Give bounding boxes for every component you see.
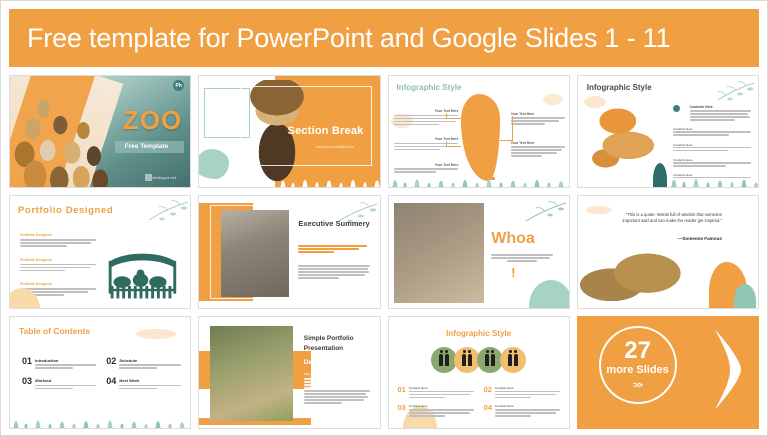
website-label: slidesppt.net bbox=[152, 176, 176, 180]
slide-thumbnail-section-break[interactable]: Section Break Insert your subtitle here bbox=[198, 75, 380, 188]
slide-subtitle: Insert your subtitle here bbox=[316, 145, 354, 149]
item-number: 04 bbox=[106, 377, 116, 386]
lead-block: Contents Here bbox=[690, 105, 751, 123]
infographic-item: Your Text Here bbox=[511, 112, 565, 127]
connector-line bbox=[500, 116, 513, 140]
quote-author: —Someone Famous bbox=[621, 236, 722, 241]
elephant-image bbox=[221, 210, 289, 297]
slide-gallery-page: Free template for PowerPoint and Google … bbox=[0, 0, 768, 436]
grass-decoration bbox=[275, 173, 380, 187]
infographic-item: Contents Here bbox=[673, 143, 751, 153]
animals-collage-image bbox=[12, 96, 117, 187]
slide-thumbnail-grid: Ph ZOO Free Template slidesppt.net Secti… bbox=[9, 75, 759, 429]
item-heading: Portfolio Designed bbox=[20, 258, 96, 262]
rhino-image bbox=[394, 203, 484, 303]
zoo-gate-illustration: ZOO bbox=[101, 239, 184, 301]
toc-item: 04 Next Week bbox=[106, 377, 180, 391]
people-circle-icon bbox=[500, 347, 526, 373]
item-number: 03 bbox=[22, 377, 32, 386]
exclamation-mark: ! bbox=[511, 265, 515, 280]
title-line-3: Designed bbox=[304, 359, 333, 366]
slide-title: Infographic Style bbox=[397, 83, 462, 92]
peach-cloud-decoration bbox=[136, 329, 176, 339]
lead-heading: Contents Here bbox=[690, 105, 751, 109]
infographic-item: 03 Content Here bbox=[398, 404, 474, 418]
slide-thumbnail-executive-summery[interactable]: Executive Summery bbox=[198, 195, 380, 308]
infographic-item: Contents Here bbox=[673, 158, 751, 168]
toc-item: 01 Introduction bbox=[22, 357, 96, 371]
giraffe-image bbox=[210, 326, 293, 422]
slide-thumbnail-portfolio-designed[interactable]: Portfolio Designed Portfolio Designed Po… bbox=[9, 195, 191, 308]
item-number: 01 bbox=[22, 357, 32, 366]
slide-thumbnail-whoa[interactable]: Whoa ! bbox=[388, 195, 570, 308]
slide-title: Portfolio Designed bbox=[18, 205, 113, 216]
item-number: 02 bbox=[484, 386, 492, 400]
slide-body-block: Your Content Here bbox=[304, 372, 371, 405]
slide-subtitle-block bbox=[298, 245, 366, 254]
body-subheading: Your Content Here bbox=[304, 372, 371, 376]
toc-item: 03 Workout bbox=[22, 377, 96, 391]
item-heading: Portfolio Designed bbox=[20, 233, 96, 237]
infographic-item: 01 Content Here bbox=[398, 386, 474, 400]
item-heading: Content Here bbox=[409, 404, 474, 408]
item-number: 04 bbox=[484, 404, 492, 418]
item-heading: Introduction bbox=[35, 358, 96, 363]
item-heading: Your Text Here bbox=[394, 163, 459, 167]
teal-blob-decoration bbox=[529, 280, 569, 308]
title-line-2: Presentation bbox=[304, 345, 343, 352]
people-circle-row bbox=[389, 347, 569, 373]
page-header-banner: Free template for PowerPoint and Google … bbox=[9, 9, 759, 67]
slide-count: 27 bbox=[624, 339, 651, 363]
peach-blob-right bbox=[543, 94, 563, 105]
slide-thumbnail-infographic-tiger[interactable]: Infographic Style Contents Here Contents… bbox=[577, 75, 759, 188]
grass-decoration bbox=[389, 171, 569, 187]
bullet-marker-icon bbox=[673, 105, 680, 112]
item-number: 03 bbox=[398, 404, 406, 418]
slide-body-block bbox=[298, 265, 370, 280]
slide-thumbnail-quote[interactable]: "This is a quote. Words full of wisdom t… bbox=[577, 195, 759, 308]
quote-text: "This is a quote. Words full of wisdom t… bbox=[621, 212, 722, 225]
grass-decoration bbox=[10, 412, 190, 428]
slide-subtitle: Free Template bbox=[115, 141, 185, 153]
infographic-item: 02 Content Here bbox=[484, 386, 560, 400]
slide-title: Executive Summery bbox=[298, 219, 369, 228]
slide-title: Whoa bbox=[491, 230, 535, 248]
branch-icon bbox=[513, 199, 567, 225]
item-heading: Portfolio Designed bbox=[20, 282, 96, 286]
logo-mark-icon bbox=[145, 174, 152, 181]
slide-thumbnail-infographic-chameleon[interactable]: Infographic Style Your Text Here Your Te… bbox=[388, 75, 570, 188]
slide-title: Simple Portfolio Presentation bbox=[304, 334, 354, 353]
branch-icon bbox=[702, 80, 756, 106]
chevron-right-icon: >> bbox=[633, 380, 642, 390]
slide-title: Table of Contents bbox=[19, 326, 90, 336]
item-heading: Next Week bbox=[119, 378, 180, 383]
teal-blob-decoration bbox=[734, 284, 756, 308]
item-number: 01 bbox=[398, 386, 406, 400]
infographic-item: Your Text Here bbox=[511, 141, 565, 159]
grass-decoration bbox=[668, 175, 758, 187]
svg-text:ZOO: ZOO bbox=[136, 261, 151, 268]
toc-item: 02 Schedule bbox=[106, 357, 180, 371]
slide-thumbnail-table-of-contents[interactable]: Table of Contents 01 Introduction 02 Sch… bbox=[9, 316, 191, 429]
slide-thumbnail-simple-portfolio[interactable]: Simple Portfolio Presentation Designed Y… bbox=[198, 316, 380, 429]
slide-title: Infographic Style bbox=[587, 83, 652, 92]
slide-thumbnail-infographic-people[interactable]: Infographic Style bbox=[388, 316, 570, 429]
slide-thumbnail-zoo-cover[interactable]: Ph ZOO Free Template slidesppt.net bbox=[9, 75, 191, 188]
portfolio-item: Portfolio Designed bbox=[20, 233, 96, 248]
more-slides-circle: 27 more Slides >> bbox=[599, 326, 677, 404]
more-slides-card[interactable]: 27 more Slides >> bbox=[577, 316, 759, 429]
item-heading: Content Here bbox=[495, 386, 560, 390]
connector-line bbox=[446, 141, 460, 148]
item-heading: Your Text Here bbox=[511, 141, 565, 145]
slide-body-block bbox=[491, 254, 552, 263]
portfolio-item: Portfolio Designed bbox=[20, 258, 96, 273]
item-heading: Workout bbox=[35, 378, 96, 383]
item-heading: Your Text Here bbox=[511, 112, 565, 116]
connector-line bbox=[446, 113, 460, 120]
title-line-1: Simple Portfolio bbox=[304, 335, 354, 342]
arrow-right-icon bbox=[713, 328, 743, 417]
lion-image bbox=[578, 250, 690, 308]
peach-cloud-decoration bbox=[586, 206, 612, 214]
item-heading: Schedule bbox=[119, 358, 180, 363]
infographic-item: 04 Content Here bbox=[484, 404, 560, 418]
slide-title: Section Break bbox=[288, 125, 364, 137]
toc-list: 01 Introduction 02 Schedule bbox=[22, 357, 181, 391]
more-slides-label: more Slides bbox=[606, 364, 668, 377]
infographic-item: Contents Here bbox=[673, 127, 751, 137]
page-title: Free template for PowerPoint and Google … bbox=[27, 23, 670, 54]
infographic-item-list: 01 Content Here 02 Content Here bbox=[398, 386, 560, 418]
branch-icon bbox=[135, 198, 189, 224]
slide-title: Infographic Style bbox=[389, 329, 569, 338]
slide-title: ZOO bbox=[123, 107, 182, 133]
item-heading: Content Here bbox=[409, 386, 474, 390]
item-number: 02 bbox=[106, 357, 116, 366]
item-heading: Content Here bbox=[495, 404, 560, 408]
